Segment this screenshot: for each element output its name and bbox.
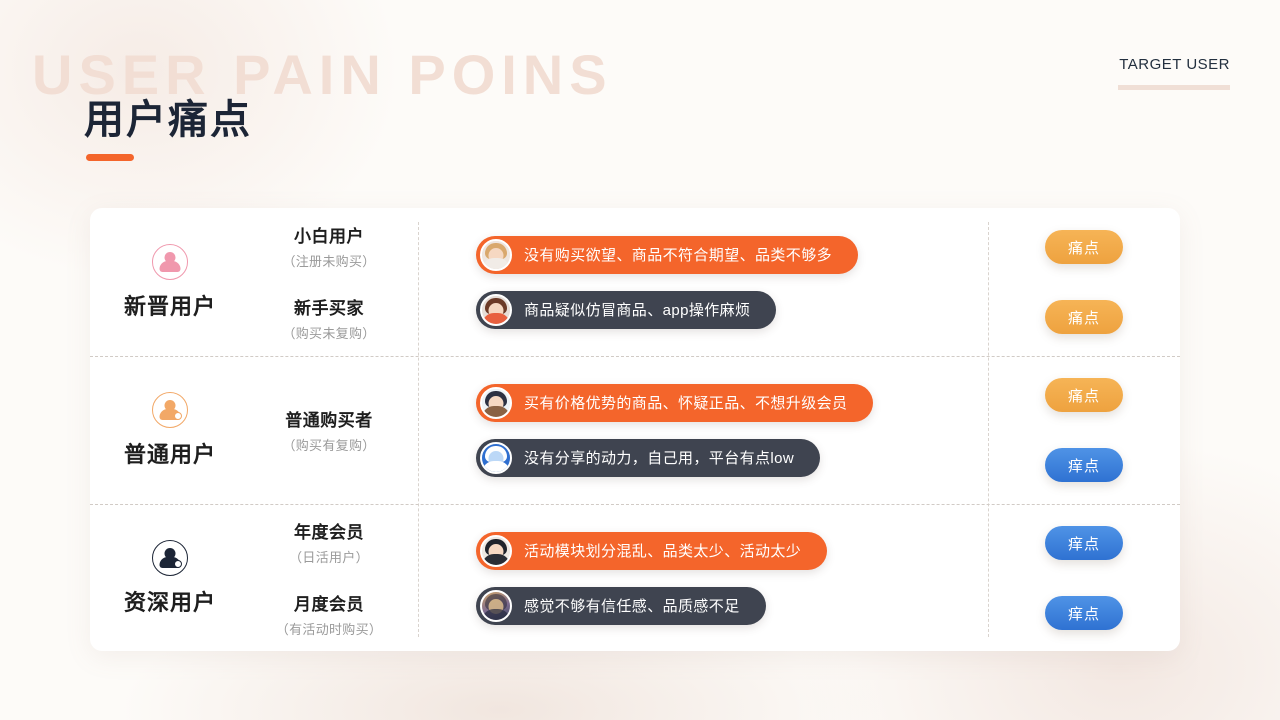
quote-pill[interactable]: 没有分享的动力，自己用，平台有点low: [476, 439, 820, 477]
status-badge[interactable]: 痒点: [1045, 526, 1123, 560]
title-underline-accent: [86, 154, 134, 161]
persona-item: 普通购买者（购买有复购）: [282, 406, 375, 454]
quote-text: 活动模块划分混乱、品类太少、活动太少: [524, 540, 801, 561]
quote-pill[interactable]: 商品疑似仿冒商品、app操作麻烦: [476, 291, 776, 329]
segment-name: 新晋用户: [124, 289, 216, 321]
matrix-rows: 新晋用户小白用户（注册未购买）新手买家（购买未复购）没有购买欲望、商品不符合期望…: [90, 208, 1180, 651]
badges-cell: 痒点痒点: [988, 526, 1180, 630]
quotes-cell: 活动模块划分混乱、品类太少、活动太少感觉不够有信任感、品质感不足: [418, 532, 988, 625]
segment-cell: 资深用户: [90, 540, 240, 617]
matrix-row: 普通用户普通购买者（购买有复购）买有价格优势的商品、怀疑正品、不想升级会员没有分…: [90, 356, 1180, 504]
avatar: [480, 535, 512, 567]
persona-cell: 普通购买者（购买有复购）: [240, 406, 418, 454]
persona-item: 小白用户（注册未购买）: [282, 222, 375, 270]
persona-cell: 年度会员（日活用户）月度会员（有活动时购买）: [240, 518, 418, 638]
quote-text: 没有分享的动力，自己用，平台有点low: [524, 447, 794, 468]
avatar: [480, 387, 512, 419]
corner-section-label: TARGET USER: [1118, 56, 1230, 90]
persona-subtitle: （购买未复购）: [282, 323, 375, 342]
avatar: [480, 294, 512, 326]
persona-title: 小白用户: [282, 222, 375, 247]
user-check-circle-icon: [152, 540, 188, 576]
persona-subtitle: （购买有复购）: [282, 435, 375, 454]
corner-section-label-text: TARGET USER: [1118, 56, 1230, 73]
badges-cell: 痛点痒点: [988, 378, 1180, 482]
avatar: [480, 442, 512, 474]
page-title: 用户痛点: [84, 97, 252, 143]
avatar: [480, 590, 512, 622]
corner-label-underline: [1118, 85, 1230, 90]
quote-text: 没有购买欲望、商品不符合期望、品类不够多: [524, 244, 832, 265]
segment-name: 资深用户: [124, 585, 216, 617]
user-circle-icon: [152, 244, 188, 280]
status-badge[interactable]: 痛点: [1045, 230, 1123, 264]
quote-pill[interactable]: 买有价格优势的商品、怀疑正品、不想升级会员: [476, 384, 873, 422]
status-badge[interactable]: 痛点: [1045, 378, 1123, 412]
persona-title: 新手买家: [282, 294, 375, 319]
decorative-english-title: USER PAIN POINS: [32, 47, 613, 103]
segment-cell: 普通用户: [90, 392, 240, 469]
persona-title: 普通购买者: [282, 406, 375, 431]
persona-subtitle: （有活动时购买）: [276, 619, 382, 638]
persona-title: 年度会员: [289, 518, 369, 543]
persona-subtitle: （注册未购买）: [282, 251, 375, 270]
persona-cell: 小白用户（注册未购买）新手买家（购买未复购）: [240, 222, 418, 342]
status-badge[interactable]: 痒点: [1045, 596, 1123, 630]
status-badge[interactable]: 痛点: [1045, 300, 1123, 334]
matrix-row: 资深用户年度会员（日活用户）月度会员（有活动时购买）活动模块划分混乱、品类太少、…: [90, 504, 1180, 651]
persona-item: 年度会员（日活用户）: [289, 518, 369, 566]
quote-text: 感觉不够有信任感、品质感不足: [524, 595, 740, 616]
badges-cell: 痛点痛点: [988, 230, 1180, 334]
persona-subtitle: （日活用户）: [289, 547, 369, 566]
avatar: [480, 239, 512, 271]
quotes-cell: 买有价格优势的商品、怀疑正品、不想升级会员没有分享的动力，自己用，平台有点low: [418, 384, 988, 477]
slide-header: USER PAIN POINS 用户痛点 TARGET USER: [0, 0, 1280, 200]
status-badge[interactable]: 痒点: [1045, 448, 1123, 482]
segment-name: 普通用户: [124, 437, 216, 469]
quote-pill[interactable]: 没有购买欲望、商品不符合期望、品类不够多: [476, 236, 858, 274]
pain-points-matrix-card: 新晋用户小白用户（注册未购买）新手买家（购买未复购）没有购买欲望、商品不符合期望…: [90, 208, 1180, 651]
persona-item: 新手买家（购买未复购）: [282, 294, 375, 342]
quotes-cell: 没有购买欲望、商品不符合期望、品类不够多商品疑似仿冒商品、app操作麻烦: [418, 236, 988, 329]
quote-pill[interactable]: 感觉不够有信任感、品质感不足: [476, 587, 766, 625]
quote-text: 买有价格优势的商品、怀疑正品、不想升级会员: [524, 392, 847, 413]
user-check-circle-icon: [152, 392, 188, 428]
quote-pill[interactable]: 活动模块划分混乱、品类太少、活动太少: [476, 532, 827, 570]
matrix-row: 新晋用户小白用户（注册未购买）新手买家（购买未复购）没有购买欲望、商品不符合期望…: [90, 208, 1180, 356]
quote-text: 商品疑似仿冒商品、app操作麻烦: [524, 299, 750, 320]
persona-item: 月度会员（有活动时购买）: [276, 590, 382, 638]
persona-title: 月度会员: [276, 590, 382, 615]
segment-cell: 新晋用户: [90, 244, 240, 321]
